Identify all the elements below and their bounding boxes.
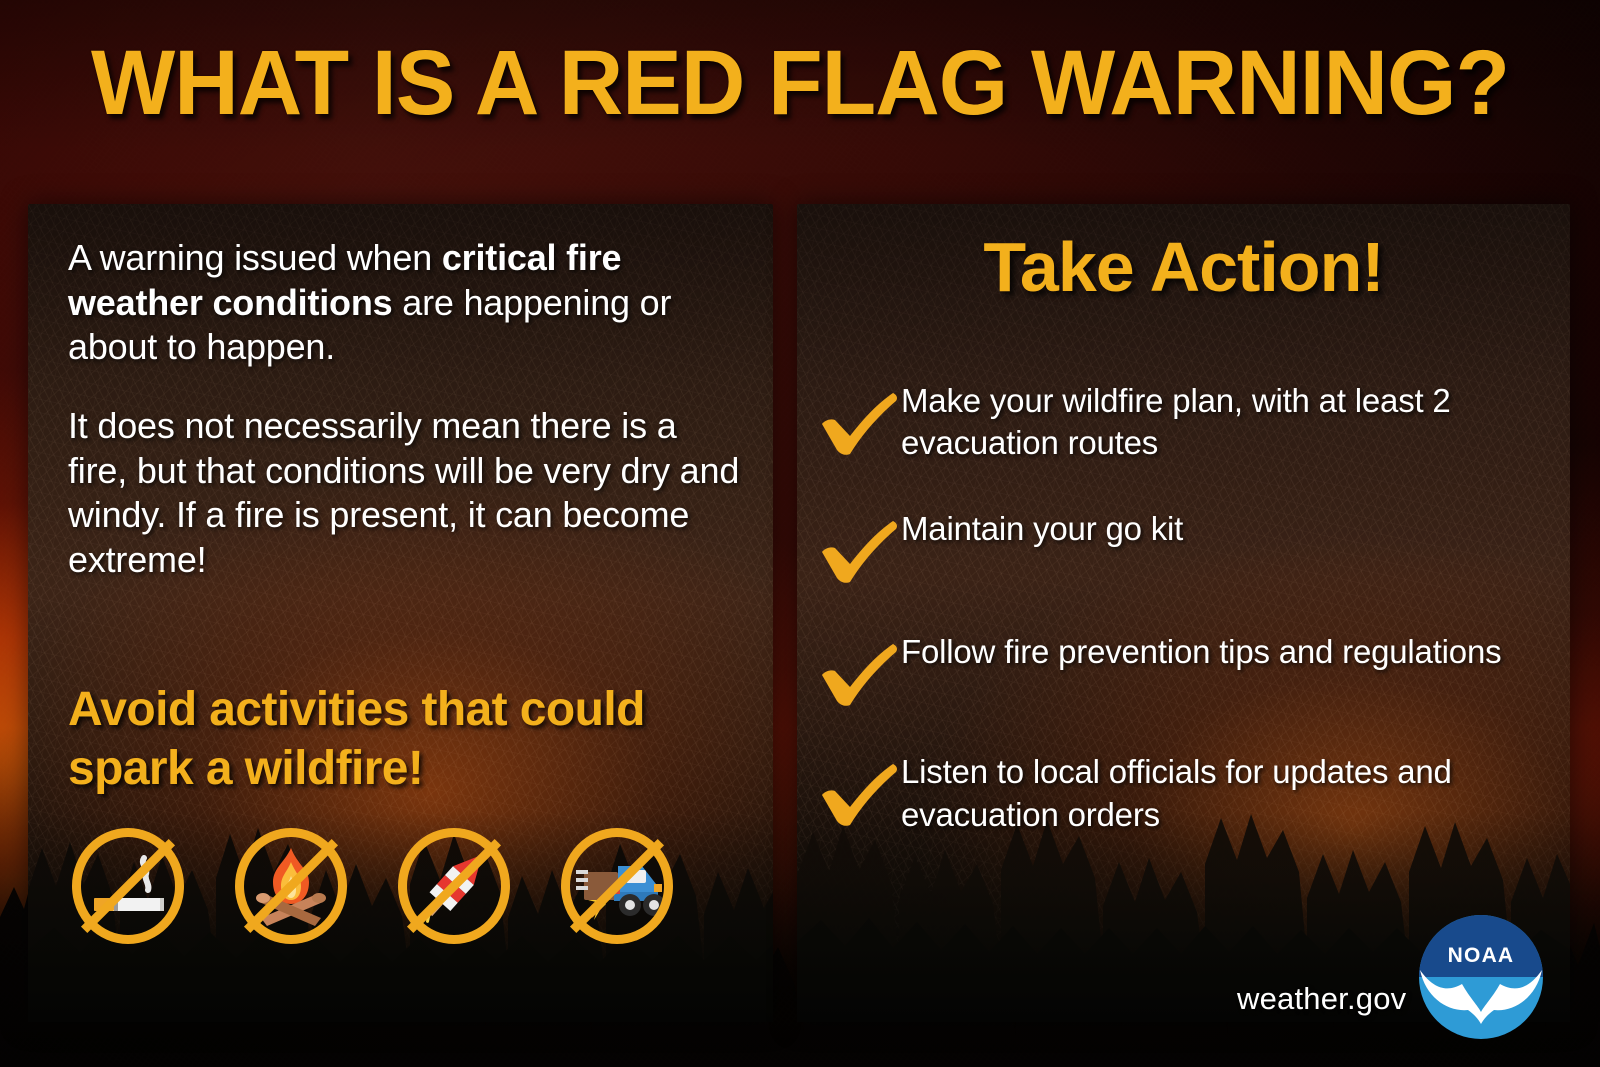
no-smoking-icon	[72, 828, 184, 944]
action-checklist: Make your wildfire plan, with at least 2…	[819, 378, 1552, 883]
infographic-canvas: WHAT IS A RED FLAG WARNING?	[0, 0, 1600, 1067]
list-item-label: Make your wildfire plan, with at least 2…	[901, 378, 1552, 464]
page-title: WHAT IS A RED FLAG WARNING?	[24, 37, 1576, 129]
list-item: Follow fire prevention tips and regulati…	[819, 629, 1552, 709]
list-item: Make your wildfire plan, with at least 2…	[819, 378, 1552, 464]
definition-panel: A warning issued when critical fire weat…	[28, 204, 773, 1022]
checkmark-icon	[819, 763, 901, 829]
no-campfire-icon	[235, 828, 347, 944]
list-item: Listen to local officials for updates an…	[819, 749, 1552, 835]
noaa-logo-text: NOAA	[1448, 944, 1515, 967]
list-item: Maintain your go kit	[819, 506, 1552, 586]
list-item-label: Maintain your go kit	[901, 506, 1183, 550]
website-label: weather.gov	[1237, 981, 1406, 1017]
prohibited-activities-row	[72, 828, 752, 944]
noaa-logo: NOAA	[1418, 914, 1544, 1040]
paragraph-1-pre: A warning issued when	[68, 237, 442, 278]
take-action-panel: Take Action! Make your wildfire plan, wi…	[797, 204, 1570, 1022]
definition-paragraph-2: It does not necessarily mean there is a …	[68, 404, 740, 583]
take-action-heading: Take Action!	[797, 227, 1570, 307]
no-fireworks-icon	[398, 828, 510, 944]
no-vehicle-sparks-icon	[561, 828, 673, 944]
list-item-label: Listen to local officials for updates an…	[901, 749, 1552, 835]
checkmark-icon	[819, 643, 901, 709]
avoid-activities-heading: Avoid activities that could spark a wild…	[68, 681, 758, 798]
definition-text: A warning issued when critical fire weat…	[68, 236, 740, 616]
checkmark-icon	[819, 392, 901, 458]
checkmark-icon	[819, 520, 901, 586]
definition-paragraph-1: A warning issued when critical fire weat…	[68, 236, 740, 370]
list-item-label: Follow fire prevention tips and regulati…	[901, 629, 1501, 673]
